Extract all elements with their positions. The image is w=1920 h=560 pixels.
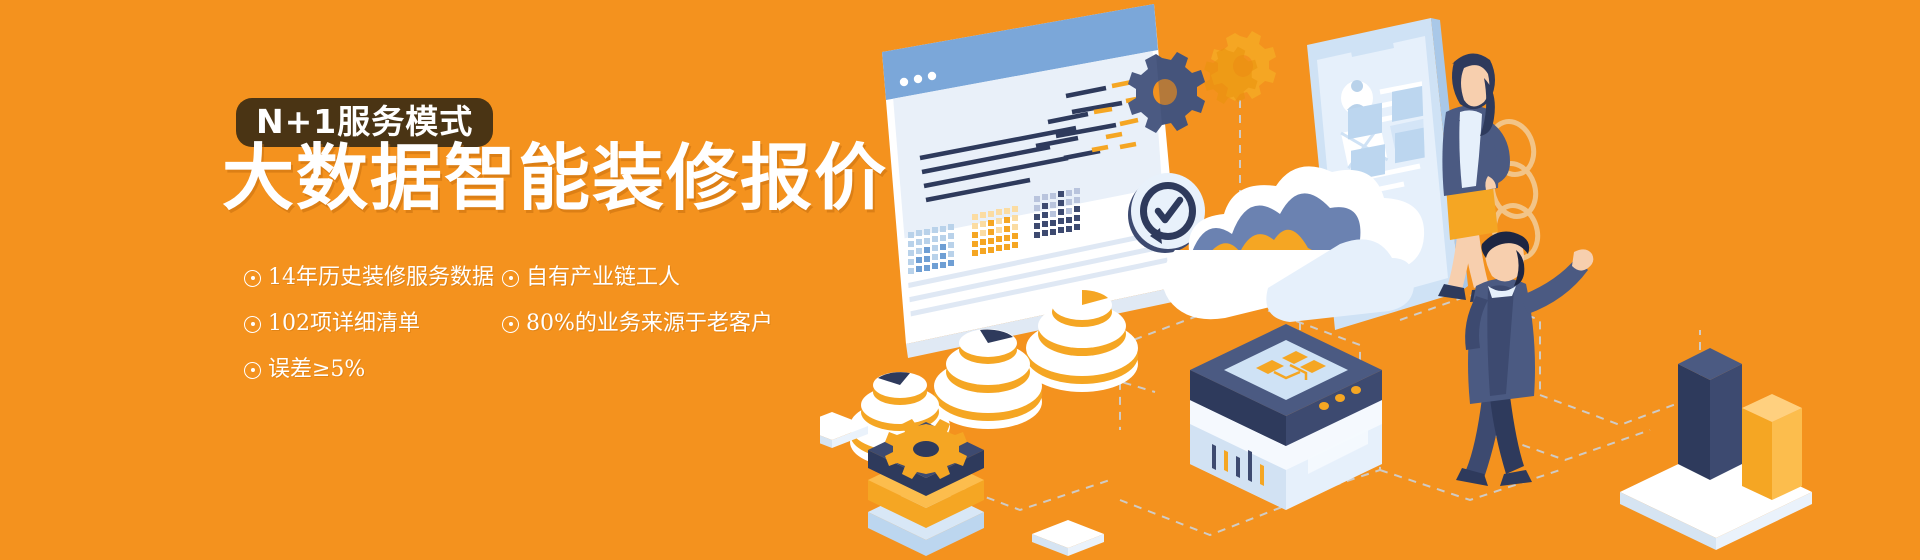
page-title: 大数据智能装修报价 <box>222 142 888 214</box>
list-item: 误差≥5% <box>244 358 502 382</box>
list-item-label: 14年历史装修服务数据 <box>268 266 494 290</box>
promo-banner: N+1服务模式 大数据智能装修报价 14年历史装修服务数据 自有产业链工人 10… <box>0 0 1920 560</box>
list-item: 80%的业务来源于老客户 <box>502 312 773 336</box>
list-item: 102项详细清单 <box>244 312 502 336</box>
list-item: 14年历史装修服务数据 <box>244 266 502 290</box>
feature-row: 102项详细清单 80%的业务来源于老客户 <box>244 312 804 336</box>
list-item-label: 自有产业链工人 <box>526 266 680 290</box>
feature-row: 14年历史装修服务数据 自有产业链工人 <box>244 266 804 290</box>
server-stack <box>1190 324 1382 510</box>
bar-chart-blocks <box>1620 348 1812 550</box>
feature-list: 14年历史装修服务数据 自有产业链工人 102项详细清单 80%的业务来源于老客… <box>244 266 804 405</box>
list-item-label: 误差≥5% <box>268 358 365 382</box>
list-item-label: 102项详细清单 <box>268 312 420 336</box>
list-item: 自有产业链工人 <box>502 266 680 290</box>
circled-dot-icon <box>244 362 261 379</box>
circled-dot-icon <box>244 316 261 333</box>
circled-dot-icon <box>502 316 519 333</box>
list-item-label: 80%的业务来源于老客户 <box>526 312 773 336</box>
feature-row: 误差≥5% <box>244 358 804 382</box>
circled-dot-icon <box>244 270 261 287</box>
banner-copy: N+1服务模式 大数据智能装修报价 14年历史装修服务数据 自有产业链工人 10… <box>0 0 900 560</box>
dashboard-window <box>882 4 1182 358</box>
circled-dot-icon <box>502 270 519 287</box>
isometric-illustration <box>820 0 1920 560</box>
